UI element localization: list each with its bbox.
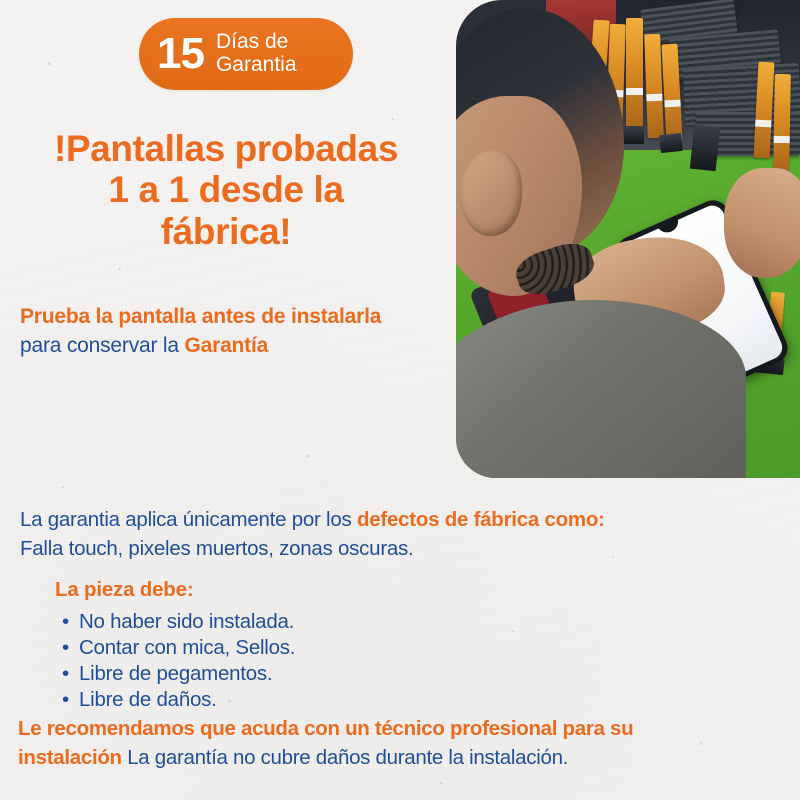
- flex-cable: [626, 18, 643, 130]
- headline-line-2: 1 a 1 desde la: [0, 169, 452, 210]
- list-item: Libre de pegamentos.: [62, 661, 295, 687]
- technician-ear: [460, 150, 522, 236]
- warranty-paragraph-plain: La garantia aplica únicamente por los: [20, 508, 357, 531]
- subheading-line-2: para conservar la Garantía: [20, 334, 268, 358]
- subheading-line-2-plain: para conservar la: [20, 334, 184, 357]
- warranty-paragraph-highlight: defectos de fábrica como:: [357, 508, 605, 531]
- factory-testing-photo: [456, 0, 800, 478]
- conditions-title: La pieza debe:: [55, 578, 193, 602]
- cable-connector: [659, 133, 683, 153]
- badge-label-line1: Días de: [216, 31, 297, 54]
- list-item: Libre de daños.: [62, 687, 295, 713]
- headline-line-3: fábrica!: [0, 211, 452, 252]
- warranty-paragraph-line-2: Falla touch, pixeles muertos, zonas oscu…: [20, 537, 414, 561]
- badge-label-line2: Garantia: [216, 54, 297, 77]
- second-hand: [724, 168, 800, 278]
- conditions-list: No haber sido instalada. Contar con mica…: [62, 609, 295, 713]
- flex-cable: [773, 74, 791, 172]
- technician-shoulder: [456, 300, 746, 478]
- cable-connector: [690, 125, 720, 171]
- badge-days-number: 15: [157, 32, 216, 76]
- headline-line-1: !Pantallas probadas: [0, 128, 452, 169]
- warranty-paragraph-line-1: La garantia aplica únicamente por los de…: [20, 508, 605, 532]
- list-item: No haber sido instalada.: [62, 609, 295, 635]
- footer-recommendation-line-2: instalación La garantía no cubre daños d…: [18, 746, 568, 770]
- subheading-line-2-highlight: Garantía: [184, 334, 268, 357]
- footer-plain: La garantía no cubre daños durante la in…: [122, 746, 568, 769]
- warranty-days-badge: 15 Días de Garantia: [139, 18, 353, 90]
- footer-highlight: instalación: [18, 746, 122, 769]
- cable-connector: [622, 126, 644, 144]
- main-headline: !Pantallas probadas 1 a 1 desde la fábri…: [0, 128, 452, 252]
- list-item: Contar con mica, Sellos.: [62, 635, 295, 661]
- subheading-line-1: Prueba la pantalla antes de instalarla: [20, 305, 381, 329]
- footer-recommendation-line-1: Le recomendamos que acuda con un técnico…: [18, 717, 633, 741]
